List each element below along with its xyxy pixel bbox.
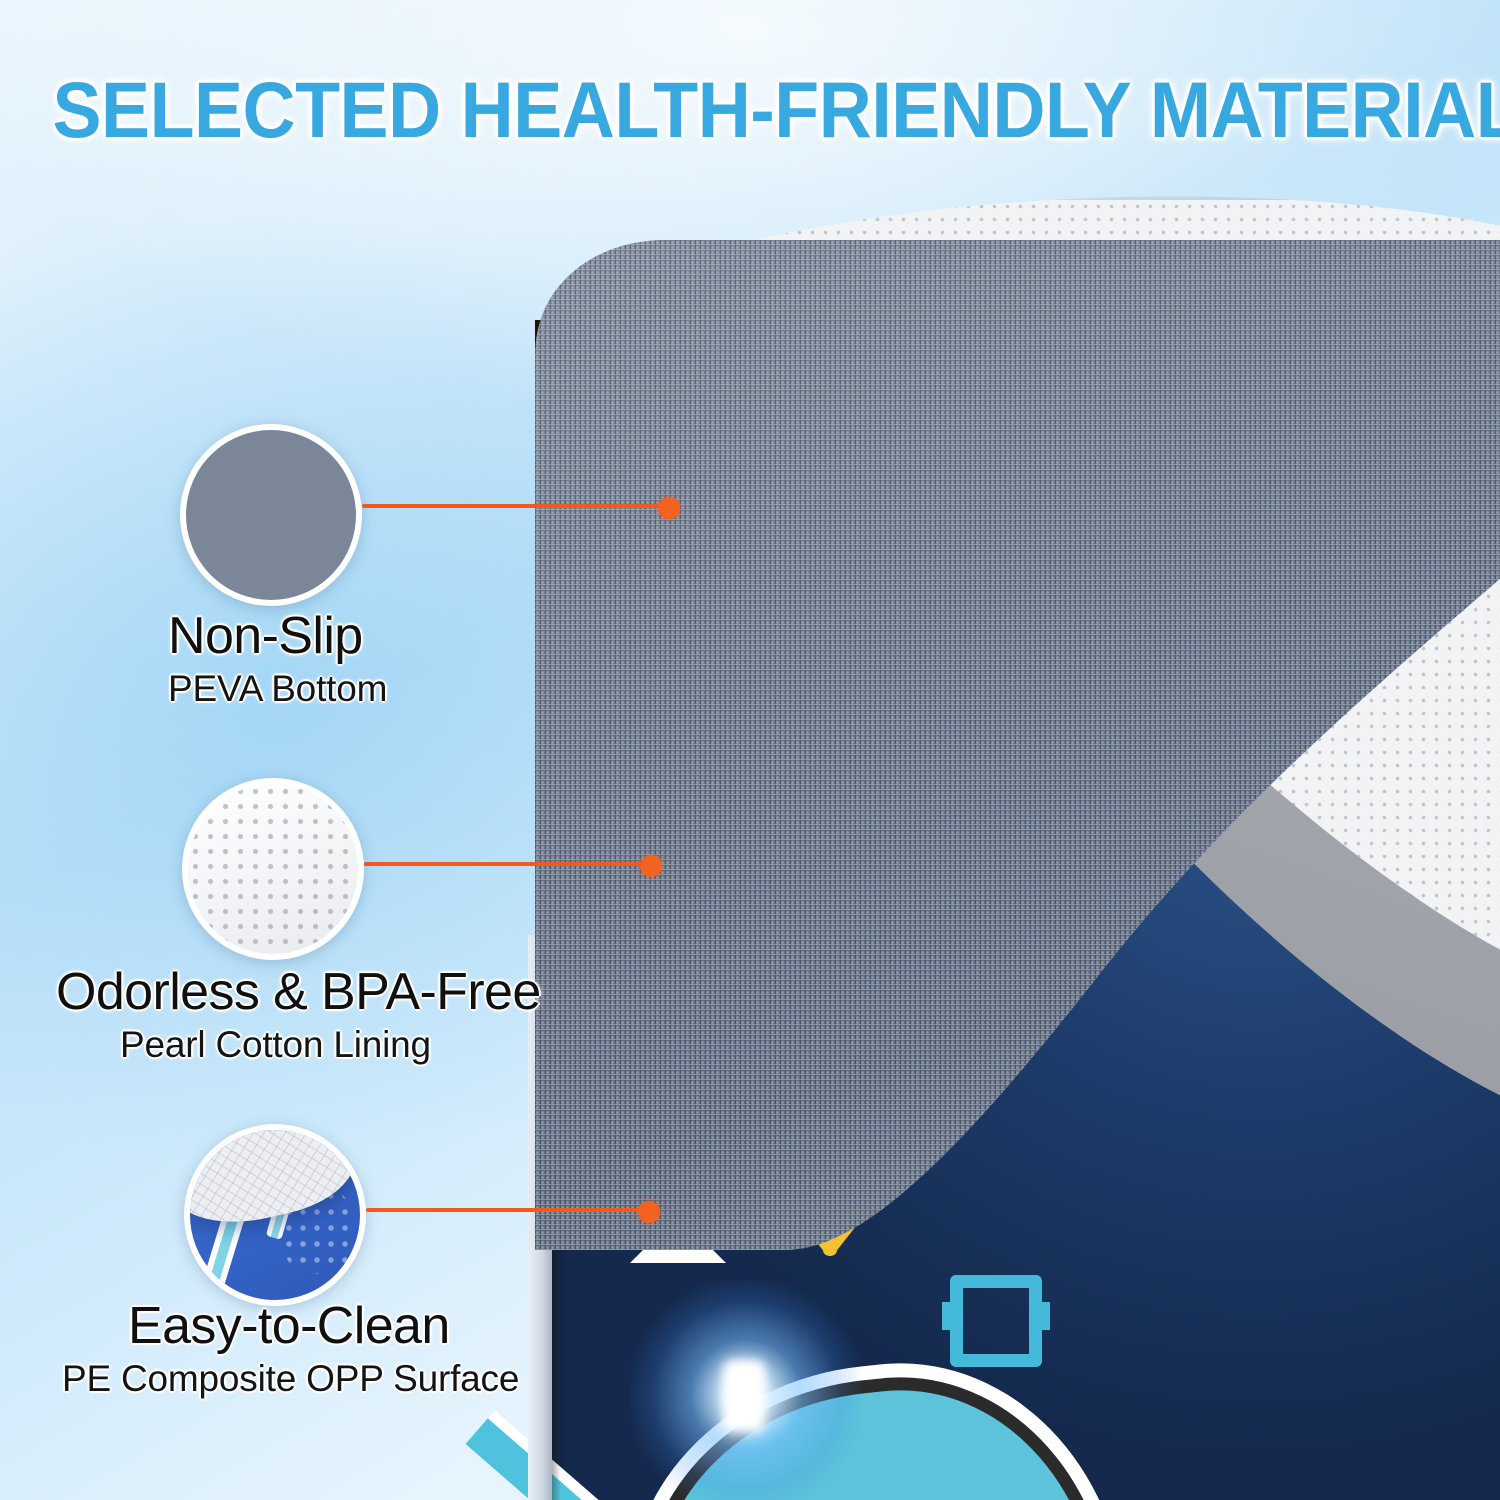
pointer-dot-non-slip bbox=[658, 497, 680, 519]
teal-square-icon bbox=[950, 1275, 1042, 1367]
surface-highlight-core bbox=[723, 1360, 765, 1432]
shark-body bbox=[622, 1357, 1133, 1500]
callout-subtitle-non-slip: PEVA Bottom bbox=[168, 668, 387, 710]
callout-subtitle-odorless: Pearl Cotton Lining bbox=[120, 1024, 431, 1066]
pointer-dot-odorless bbox=[640, 855, 662, 877]
callout-title-non-slip: Non-Slip bbox=[168, 606, 363, 666]
infographic-canvas: SELECTED HEALTH-FRIENDLY MATERIALS bbox=[0, 0, 1500, 1500]
teal-window-inner bbox=[1429, 668, 1500, 968]
pointer-line-easy-clean bbox=[366, 1208, 648, 1212]
pointer-line-non-slip bbox=[362, 504, 668, 508]
pointer-line-odorless bbox=[364, 862, 650, 866]
woven-gray-blue-fabric-swatch bbox=[180, 424, 362, 606]
white-perforated-nonwoven-swatch bbox=[182, 778, 364, 960]
cloth-wiping-blue-mat-swatch bbox=[184, 1124, 366, 1306]
product-photo bbox=[520, 200, 1500, 1500]
teal-window-frame-icon bbox=[1411, 650, 1500, 986]
callout-subtitle-easy-clean: PE Composite OPP Surface bbox=[62, 1358, 519, 1400]
callout-title-easy-clean: Easy-to-Clean bbox=[128, 1296, 450, 1356]
pointer-dot-easy-clean bbox=[638, 1201, 660, 1223]
page-title: SELECTED HEALTH-FRIENDLY MATERIALS bbox=[53, 70, 1448, 149]
callout-title-odorless: Odorless & BPA-Free bbox=[56, 962, 541, 1022]
